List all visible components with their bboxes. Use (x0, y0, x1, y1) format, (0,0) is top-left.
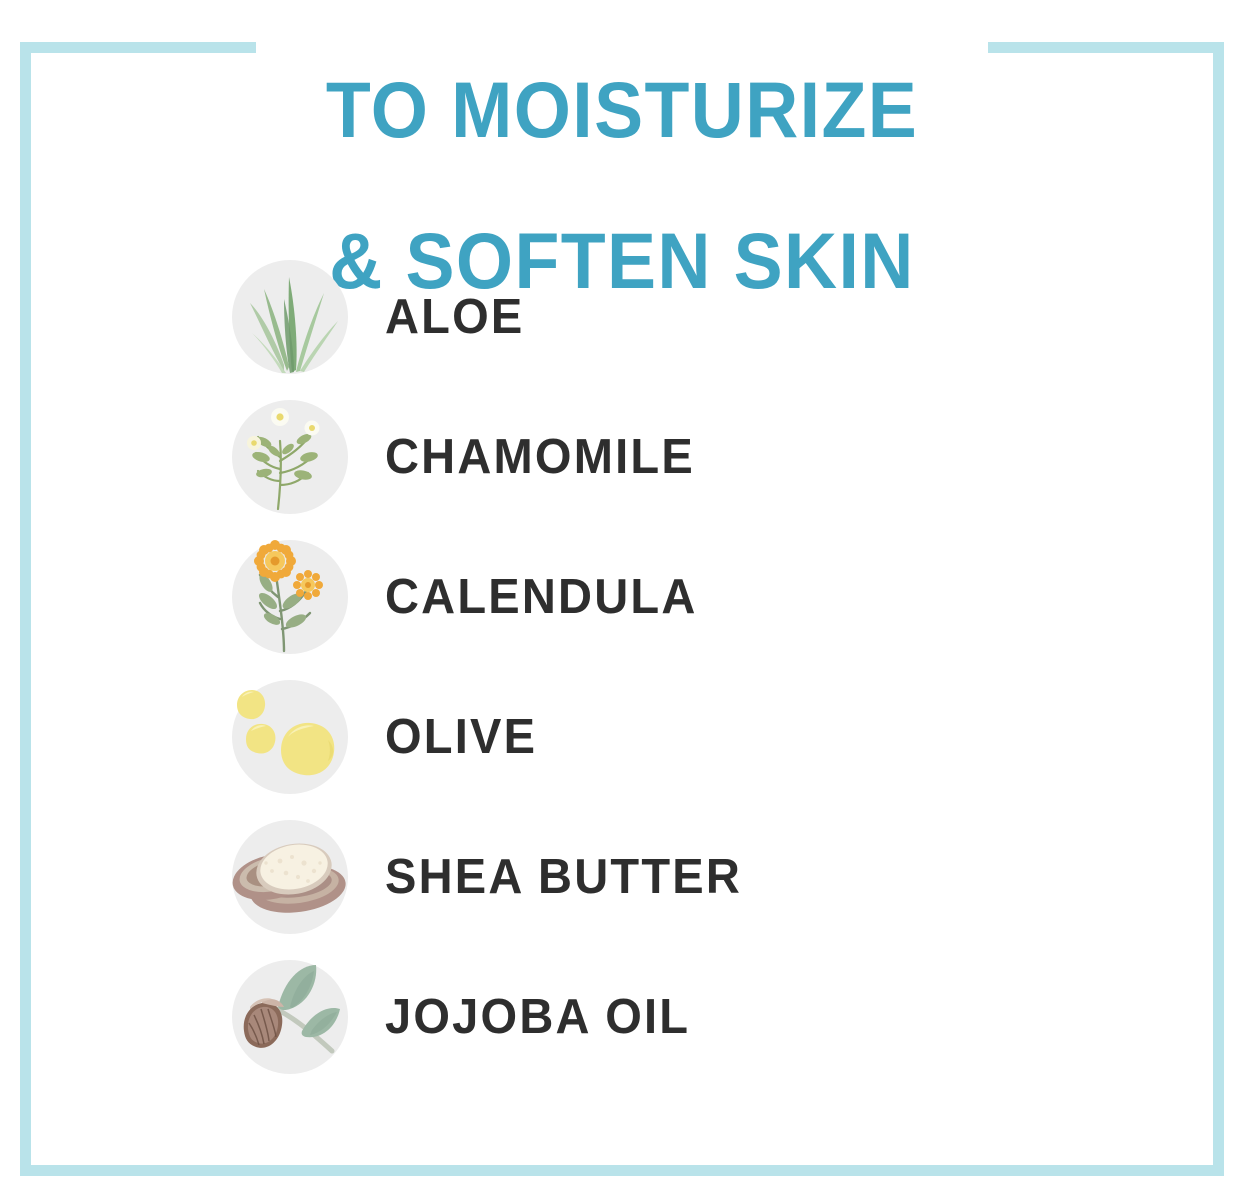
list-item: JOJOBA OIL (232, 947, 1132, 1087)
aloe-plant-icon (232, 259, 348, 375)
olive-oil-drops-icon (232, 679, 348, 795)
jojoba-seed-leaf-icon (232, 959, 348, 1075)
frame-left-edge (20, 42, 31, 1176)
list-item-label: OLIVE (385, 709, 537, 765)
list-item-label: ALOE (385, 289, 525, 345)
chamomile-flower-icon (232, 399, 348, 515)
list-item-label: CHAMOMILE (385, 429, 695, 485)
list-item: SHEA BUTTER (232, 807, 1132, 947)
infographic-canvas: TO MOISTURIZE & SOFTEN SKIN (0, 0, 1244, 1189)
calendula-flower-icon (232, 539, 348, 655)
list-item: CHAMOMILE (232, 387, 1132, 527)
list-item-label: JOJOBA OIL (385, 989, 690, 1045)
list-item: OLIVE (232, 667, 1132, 807)
frame-right-edge (1213, 42, 1224, 1176)
shea-butter-nut-icon (232, 819, 348, 935)
page-title-line-1: TO MOISTURIZE (44, 72, 1201, 148)
list-item: ALOE (232, 247, 1132, 387)
frame-bottom-edge (20, 1165, 1224, 1176)
list-item-label: SHEA BUTTER (385, 849, 742, 905)
list-item-label: CALENDULA (385, 569, 698, 625)
list-item: CALENDULA (232, 527, 1132, 667)
ingredient-list: ALOE (232, 247, 1132, 1087)
